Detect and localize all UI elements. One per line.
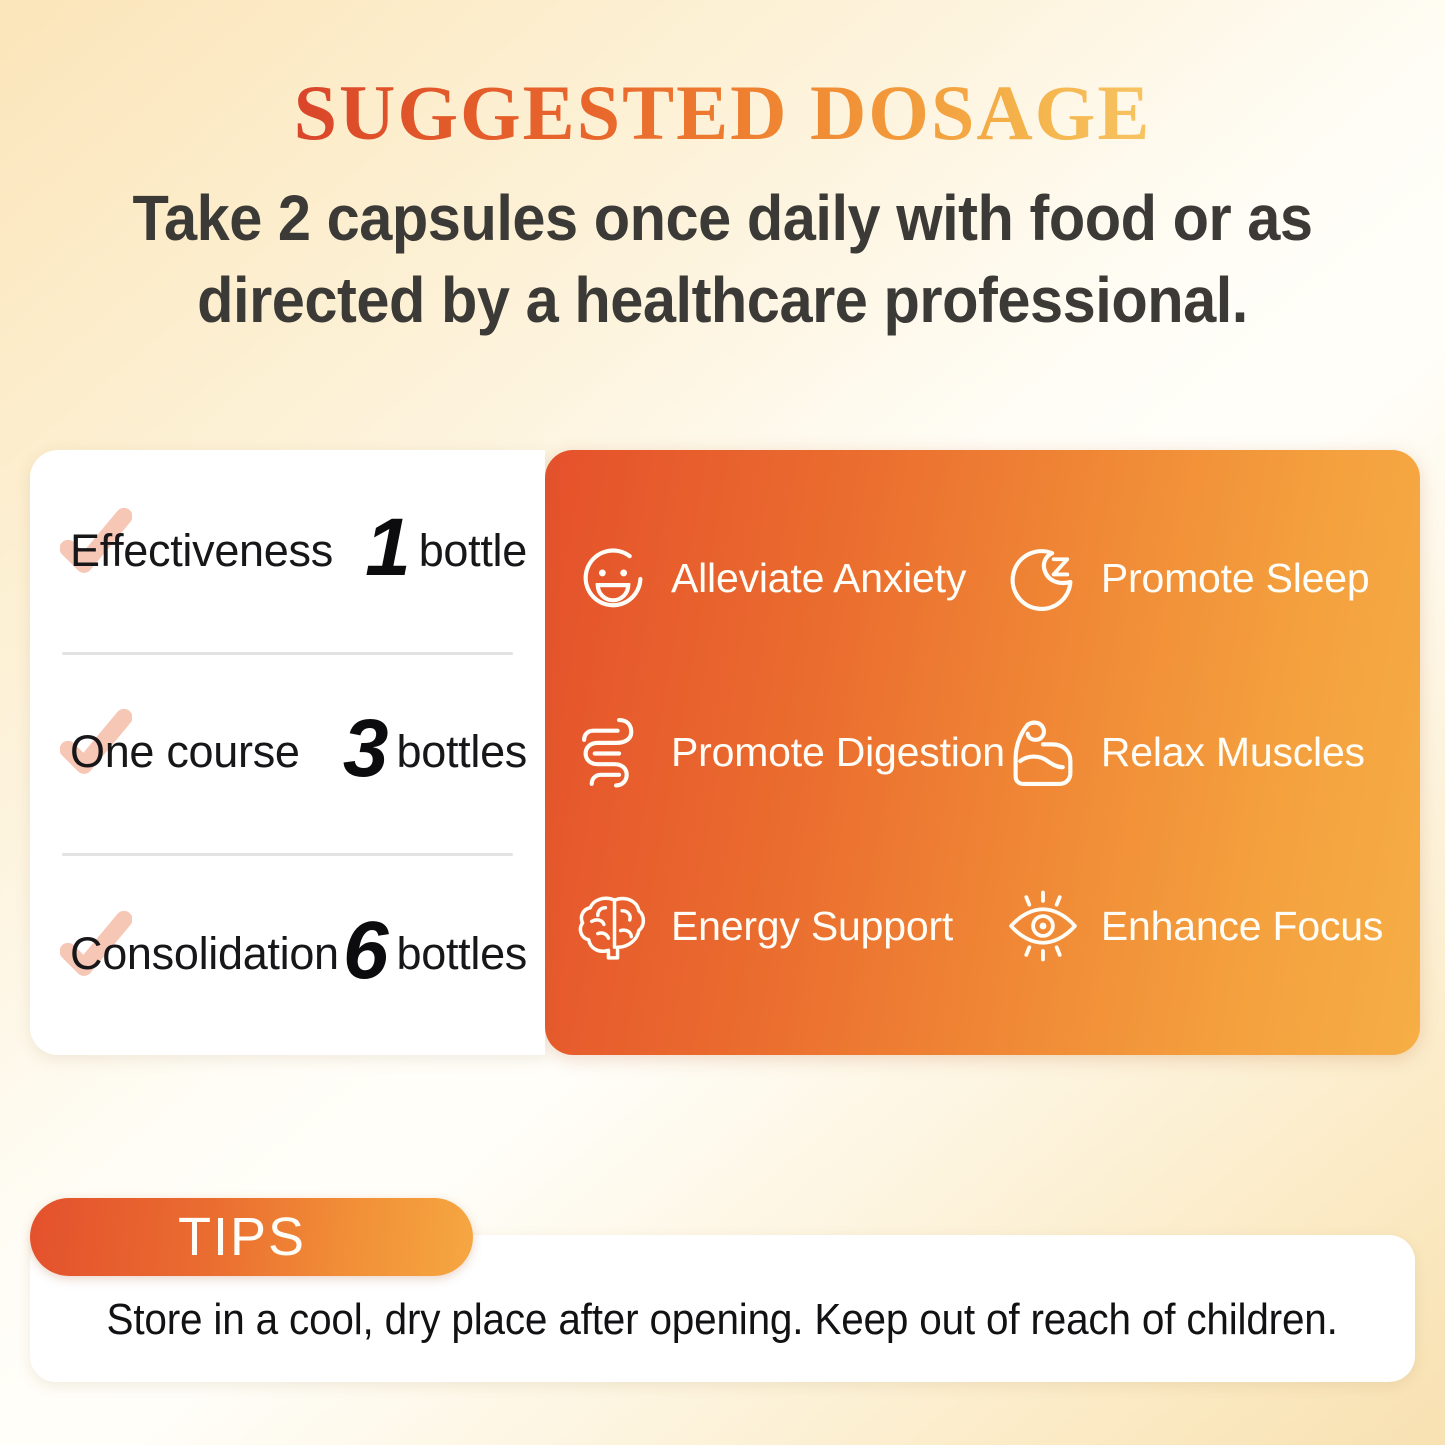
brain-icon <box>575 888 651 964</box>
benefit-promote-sleep: Promote Sleep <box>1005 541 1394 617</box>
benefit-label: Relax Muscles <box>1101 729 1365 776</box>
benefit-energy-support: Energy Support <box>575 888 1005 964</box>
benefit-alleviate-anxiety: Alleviate Anxiety <box>575 541 1005 617</box>
dosage-unit: bottles <box>397 726 527 778</box>
eye-rays-icon <box>1005 888 1081 964</box>
benefit-enhance-focus: Enhance Focus <box>1005 888 1394 964</box>
dosage-number: 6 <box>343 910 389 998</box>
benefit-label: Energy Support <box>671 903 953 950</box>
tips-badge-label: TIPS <box>178 1206 306 1268</box>
benefit-relax-muscles: Relax Muscles <box>1005 714 1394 790</box>
dosage-unit: bottles <box>397 928 527 980</box>
intestine-icon <box>575 714 651 790</box>
smiley-face-icon <box>575 541 651 617</box>
dosage-number: 1 <box>365 507 411 595</box>
dosage-unit: bottle <box>419 525 527 577</box>
dosage-label: Consolidation <box>70 928 339 980</box>
page-subtitle: Take 2 capsules once daily with food or … <box>51 178 1395 342</box>
dosage-card: Effectiveness 1 bottle One course 3 bott… <box>30 450 545 1055</box>
dosage-row-one-course: One course 3 bottles <box>30 652 545 854</box>
moon-z-icon <box>1005 541 1081 617</box>
dosage-label: One course <box>70 726 300 778</box>
benefit-label: Promote Sleep <box>1101 555 1370 602</box>
dosage-number: 3 <box>343 708 389 796</box>
benefit-label: Promote Digestion <box>671 729 1005 776</box>
benefit-label: Alleviate Anxiety <box>671 555 966 602</box>
dosage-row-consolidation: Consolidation 6 bottles <box>30 853 545 1055</box>
flexed-bicep-icon <box>1005 714 1081 790</box>
benefit-promote-digestion: Promote Digestion <box>575 714 1005 790</box>
page-title: SUGGESTED DOSAGE <box>294 74 1152 152</box>
dosage-label: Effectiveness <box>70 525 333 577</box>
tips-note: Store in a cool, dry place after opening… <box>107 1295 1338 1345</box>
tips-badge: TIPS <box>30 1198 473 1276</box>
main-panels: Effectiveness 1 bottle One course 3 bott… <box>30 450 1420 1055</box>
header: SUGGESTED DOSAGE Take 2 capsules once da… <box>0 0 1445 342</box>
benefit-label: Enhance Focus <box>1101 903 1383 950</box>
benefits-panel: Alleviate Anxiety Promote Sleep <box>545 450 1420 1055</box>
dosage-row-effectiveness: Effectiveness 1 bottle <box>30 450 545 652</box>
